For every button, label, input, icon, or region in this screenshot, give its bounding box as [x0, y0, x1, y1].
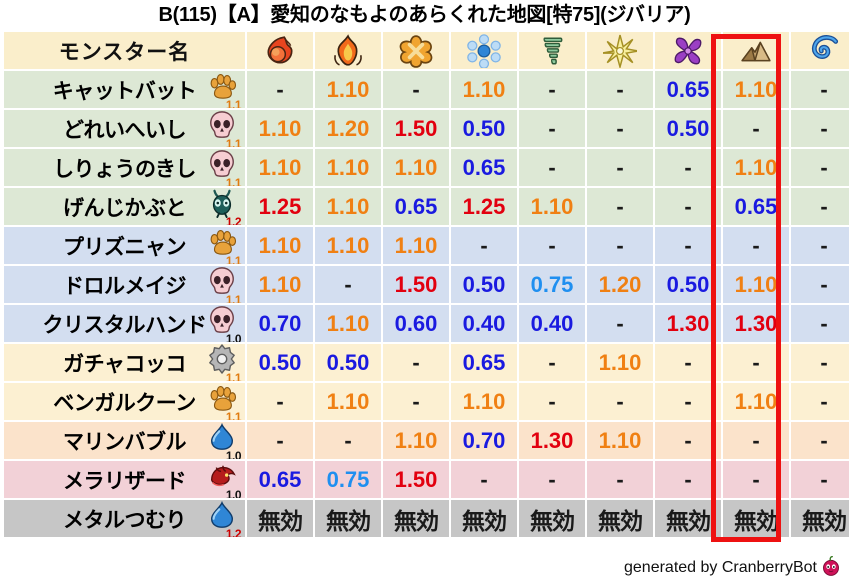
resistance-cell: - [723, 227, 789, 264]
monster-name-label: メラリザード [63, 465, 186, 495]
resistance-cell: 0.65 [655, 71, 721, 108]
monster-badge: 1.0 [207, 424, 241, 458]
resistance-value: 0.50 [667, 116, 710, 141]
table-row: ガチャコッコ1.10.500.50-0.65-1.10--- [4, 344, 849, 381]
monster-badge: 1.1 [207, 229, 241, 263]
resistance-value: - [752, 350, 759, 375]
monster-badge: 1.2 [207, 190, 241, 224]
monster-badge: 1.1 [207, 268, 241, 302]
header-monster-name: モンスター名 [4, 32, 245, 69]
resistance-cell: - [587, 149, 653, 186]
resistance-cell: - [791, 149, 849, 186]
resistance-cell: 0.50 [655, 266, 721, 303]
resistance-cell: 無効 [247, 500, 313, 537]
resistance-cell: 1.10 [383, 149, 449, 186]
resistance-table-wrap: モンスター名 キャットバット1.1-1.10-1.10--0.651.10-どれ… [0, 30, 849, 539]
monster-name-cell[interactable]: しりょうのきし1.1 [4, 149, 245, 186]
resistance-cell: 0.65 [247, 461, 313, 498]
resistance-cell: - [519, 110, 585, 147]
monster-level-label: 1.2 [226, 528, 241, 537]
header-element-dorma[interactable] [655, 32, 721, 69]
resistance-value: - [616, 77, 623, 102]
footer-text: generated by CranberryBot [624, 559, 817, 576]
skull-icon [207, 305, 237, 335]
starburst-icon [603, 34, 637, 68]
resistance-cell: 0.65 [451, 344, 517, 381]
monster-badge: 1.0 [207, 463, 241, 497]
resistance-value: 無効 [326, 508, 370, 534]
resistance-cell: 1.10 [315, 305, 381, 342]
resistance-value: 1.10 [599, 350, 642, 375]
table-row: どれいへいし1.11.101.201.500.50--0.50-- [4, 110, 849, 147]
table-header-row: モンスター名 [4, 32, 849, 69]
resistance-cell: 1.10 [247, 110, 313, 147]
footer: generated by CranberryBot [624, 556, 841, 577]
resistance-value: - [276, 77, 283, 102]
table-body: キャットバット1.1-1.10-1.10--0.651.10-どれいへいし1.1… [4, 71, 849, 537]
resistance-value: 1.10 [327, 233, 370, 258]
resistance-value: 1.10 [327, 194, 370, 219]
snowflake-icon [467, 34, 501, 68]
skull-icon [207, 149, 237, 179]
resistance-cell: - [587, 461, 653, 498]
resistance-value: 1.10 [259, 272, 302, 297]
resistance-cell: 1.10 [451, 71, 517, 108]
dragon-icon [207, 461, 237, 491]
resistance-value: 1.10 [735, 272, 778, 297]
header-element-jibaria[interactable] [723, 32, 789, 69]
resistance-cell: 1.10 [247, 266, 313, 303]
resistance-value: 1.25 [463, 194, 506, 219]
resistance-value: - [684, 389, 691, 414]
monster-level-label: 1.0 [226, 450, 241, 459]
monster-name-label: ドロルメイジ [63, 270, 186, 300]
resistance-value: 1.20 [327, 116, 370, 141]
table-row: マリンバブル1.0--1.100.701.301.10--- [4, 422, 849, 459]
resistance-value: 1.10 [259, 155, 302, 180]
resistance-value: 無効 [394, 508, 438, 534]
resistance-cell: 1.20 [315, 110, 381, 147]
monster-name-label: ベンガルクーン [53, 387, 195, 417]
resistance-cell: 0.50 [315, 344, 381, 381]
resistance-value: 1.10 [531, 194, 574, 219]
resistance-cell: - [587, 383, 653, 420]
resistance-cell: - [247, 383, 313, 420]
resistance-cell: - [791, 383, 849, 420]
monster-name-label: プリズニャン [63, 231, 186, 261]
monster-level-label: 1.1 [226, 294, 241, 303]
resistance-cell: - [723, 344, 789, 381]
monster-badge: 1.1 [207, 151, 241, 185]
resistance-value: 0.75 [531, 272, 574, 297]
monster-name-cell[interactable]: ベンガルクーン1.1 [4, 383, 245, 420]
monster-name-label: ガチャコッコ [63, 348, 186, 378]
resistance-value: 1.10 [395, 233, 438, 258]
resistance-value: 無効 [802, 508, 846, 534]
resistance-value: 1.30 [667, 311, 710, 336]
monster-name-label: どれいへいし [63, 114, 186, 144]
resistance-cell: - [723, 422, 789, 459]
resistance-value: - [820, 77, 827, 102]
resistance-value: 無効 [598, 508, 642, 534]
monster-level-label: 1.1 [226, 138, 241, 147]
resistance-cell: 0.40 [451, 305, 517, 342]
paw-icon [207, 227, 237, 257]
gear-icon [207, 344, 237, 374]
resistance-cell: - [791, 110, 849, 147]
resistance-value: - [616, 233, 623, 258]
resistance-value: 無効 [734, 508, 778, 534]
monster-badge: 1.1 [207, 73, 241, 107]
resistance-value: 0.75 [327, 467, 370, 492]
resistance-cell: 無効 [519, 500, 585, 537]
bug-icon [207, 188, 237, 218]
resistance-value: - [616, 467, 623, 492]
flame-icon [331, 34, 365, 68]
resistance-value: 1.10 [327, 311, 370, 336]
resistance-value: - [616, 389, 623, 414]
resistance-cell: - [587, 305, 653, 342]
skull-icon [207, 266, 237, 296]
resistance-cell: 1.10 [315, 227, 381, 264]
resistance-value: - [548, 389, 555, 414]
resistance-cell: - [655, 422, 721, 459]
header-element-bagi[interactable] [519, 32, 585, 69]
resistance-value: 0.50 [259, 350, 302, 375]
resistance-cell: 1.10 [723, 149, 789, 186]
resistance-value: - [820, 428, 827, 453]
monster-name-label: げんじかぶと [63, 192, 186, 222]
monster-name-label: マリンバブル [63, 426, 186, 456]
resistance-value: 0.40 [531, 311, 574, 336]
resistance-cell: 1.10 [723, 383, 789, 420]
monster-level-label: 1.0 [226, 489, 241, 498]
dark-pinwheel-icon [671, 34, 705, 68]
resistance-value: - [616, 116, 623, 141]
resistance-value: 無効 [666, 508, 710, 534]
resistance-cell: 無効 [791, 500, 849, 537]
monster-name-label: キャットバット [53, 75, 197, 105]
resistance-cell: - [655, 344, 721, 381]
cranberry-icon [821, 556, 841, 576]
resistance-value: - [820, 194, 827, 219]
resistance-value: 1.50 [395, 272, 438, 297]
resistance-cell: 0.75 [315, 461, 381, 498]
resistance-value: 1.25 [259, 194, 302, 219]
resistance-value: - [548, 350, 555, 375]
resistance-cell: 1.50 [383, 461, 449, 498]
resistance-cell: - [519, 227, 585, 264]
slime-icon [207, 500, 237, 530]
page-title: B(115)【A】愛知のなもよのあらくれた地図[特75](ジバリア) [0, 0, 849, 30]
resistance-cell: 1.10 [587, 422, 653, 459]
monster-level-label: 1.2 [226, 216, 241, 225]
table-row: プリズニャン1.11.101.101.10------ [4, 227, 849, 264]
resistance-value: - [684, 467, 691, 492]
resistance-cell: 0.75 [519, 266, 585, 303]
resistance-cell: - [587, 188, 653, 225]
monster-name-cell[interactable]: ドロルメイジ1.1 [4, 266, 245, 303]
resistance-value: 0.70 [463, 428, 506, 453]
resistance-value: - [752, 428, 759, 453]
monster-badge: 1.2 [207, 502, 241, 536]
resistance-cell: 1.10 [315, 188, 381, 225]
resistance-value: - [820, 116, 827, 141]
resistance-cell: - [315, 266, 381, 303]
resistance-value: 1.10 [463, 389, 506, 414]
table-row: クリスタルハンド1.00.701.100.600.400.40-1.301.30… [4, 305, 849, 342]
resistance-value: 0.50 [667, 272, 710, 297]
resistance-cell: 1.25 [247, 188, 313, 225]
resistance-cell: - [655, 383, 721, 420]
header-element-gira[interactable] [315, 32, 381, 69]
resistance-cell: 無効 [383, 500, 449, 537]
resistance-cell: - [655, 227, 721, 264]
monster-level-label: 1.1 [226, 255, 241, 264]
resistance-value: - [480, 233, 487, 258]
resistance-value: - [548, 155, 555, 180]
monster-name-label: メタルつむり [63, 504, 186, 534]
resistance-cell: - [791, 188, 849, 225]
resistance-value: 0.70 [259, 311, 302, 336]
monster-name-label: クリスタルハンド [43, 309, 207, 339]
resistance-value: - [820, 389, 827, 414]
resistance-cell: - [247, 422, 313, 459]
resistance-value: - [548, 233, 555, 258]
slime-icon [207, 422, 237, 452]
resistance-value: 0.65 [259, 467, 302, 492]
resistance-value: 1.30 [531, 428, 574, 453]
resistance-cell: 1.10 [519, 188, 585, 225]
resistance-cell: - [791, 422, 849, 459]
resistance-cell: - [519, 344, 585, 381]
resistance-cell: 無効 [723, 500, 789, 537]
resistance-value: 1.50 [395, 116, 438, 141]
resistance-cell: - [383, 71, 449, 108]
resistance-cell: - [587, 71, 653, 108]
resistance-cell: - [791, 227, 849, 264]
resistance-cell: - [451, 461, 517, 498]
resistance-table: モンスター名 キャットバット1.1-1.10-1.10--0.651.10-どれ… [2, 30, 849, 539]
resistance-cell: 1.10 [587, 344, 653, 381]
resistance-value: - [548, 467, 555, 492]
monster-name-cell[interactable]: マリンバブル1.0 [4, 422, 245, 459]
resistance-cell: 1.10 [383, 422, 449, 459]
resistance-cell: 0.50 [451, 110, 517, 147]
wave-icon [807, 34, 841, 68]
resistance-value: - [276, 428, 283, 453]
monster-badge: 1.0 [207, 307, 241, 341]
resistance-cell: - [519, 383, 585, 420]
resistance-cell: - [723, 461, 789, 498]
table-row: メラリザード1.00.650.751.50------ [4, 461, 849, 498]
resistance-cell: 無効 [451, 500, 517, 537]
resistance-value: 0.65 [667, 77, 710, 102]
monster-name-cell[interactable]: メタルつむり1.2 [4, 500, 245, 537]
resistance-value: - [820, 233, 827, 258]
resistance-cell: - [519, 461, 585, 498]
resistance-value: 0.50 [463, 116, 506, 141]
paw-icon [207, 383, 237, 413]
resistance-value: 0.65 [395, 194, 438, 219]
resistance-value: 1.10 [327, 389, 370, 414]
resistance-cell: 1.30 [655, 305, 721, 342]
resistance-cell: - [655, 188, 721, 225]
table-row: しりょうのきし1.11.101.101.100.65---1.10- [4, 149, 849, 186]
resistance-cell: - [723, 110, 789, 147]
table-row: キャットバット1.1-1.10-1.10--0.651.10- [4, 71, 849, 108]
resistance-cell: 0.50 [451, 266, 517, 303]
resistance-cell: 1.50 [383, 110, 449, 147]
resistance-cell: - [655, 461, 721, 498]
monster-name-cell[interactable]: げんじかぶと1.2 [4, 188, 245, 225]
resistance-value: 0.65 [463, 350, 506, 375]
resistance-cell: - [655, 149, 721, 186]
resistance-value: 1.10 [735, 77, 778, 102]
resistance-cell: 1.20 [587, 266, 653, 303]
resistance-cell: - [791, 266, 849, 303]
table-row: ドロルメイジ1.11.10-1.500.500.751.200.501.10- [4, 266, 849, 303]
resistance-value: 0.65 [735, 194, 778, 219]
resistance-value: 無効 [462, 508, 506, 534]
resistance-cell: - [791, 344, 849, 381]
resistance-value: - [820, 350, 827, 375]
resistance-value: - [616, 194, 623, 219]
resistance-value: - [820, 155, 827, 180]
table-row: ベンガルクーン1.1-1.10-1.10---1.10- [4, 383, 849, 420]
mountain-icon [739, 34, 773, 68]
header-element-iora[interactable] [383, 32, 449, 69]
resistance-value: - [276, 389, 283, 414]
resistance-value: - [684, 233, 691, 258]
resistance-cell: 0.40 [519, 305, 585, 342]
resistance-value: - [548, 77, 555, 102]
resistance-cell: 1.10 [723, 266, 789, 303]
resistance-cell: - [791, 305, 849, 342]
resistance-cell: - [315, 422, 381, 459]
resistance-cell: - [587, 227, 653, 264]
resistance-cell: 1.10 [247, 227, 313, 264]
monster-name-cell[interactable]: キャットバット1.1 [4, 71, 245, 108]
resistance-cell: - [451, 227, 517, 264]
monster-name-cell[interactable]: どれいへいし1.1 [4, 110, 245, 147]
resistance-value: - [480, 467, 487, 492]
resistance-value: - [820, 467, 827, 492]
resistance-value: - [412, 77, 419, 102]
resistance-value: - [616, 155, 623, 180]
resistance-value: 1.10 [259, 116, 302, 141]
explosion-icon [399, 34, 433, 68]
resistance-cell: 1.30 [519, 422, 585, 459]
resistance-value: 1.10 [327, 155, 370, 180]
resistance-cell: 0.70 [247, 305, 313, 342]
resistance-cell: - [519, 71, 585, 108]
resistance-value: 0.65 [463, 155, 506, 180]
resistance-value: - [684, 350, 691, 375]
resistance-value: 無効 [258, 508, 302, 534]
monster-badge: 1.1 [207, 346, 241, 380]
monster-level-label: 1.1 [226, 99, 241, 108]
resistance-value: 0.50 [463, 272, 506, 297]
monster-level-label: 1.0 [226, 333, 241, 342]
monster-name-cell[interactable]: プリズニャン1.1 [4, 227, 245, 264]
header-element-hyado[interactable] [451, 32, 517, 69]
resistance-value: 無効 [530, 508, 574, 534]
resistance-value: - [344, 272, 351, 297]
monster-badge: 1.1 [207, 385, 241, 419]
monster-name-cell[interactable]: ガチャコッコ1.1 [4, 344, 245, 381]
resistance-value: - [684, 194, 691, 219]
resistance-cell: 1.50 [383, 266, 449, 303]
resistance-value: - [820, 272, 827, 297]
monster-name-label: しりょうのきし [53, 153, 196, 183]
resistance-value: 1.30 [735, 311, 778, 336]
resistance-cell: - [791, 461, 849, 498]
resistance-value: - [752, 467, 759, 492]
resistance-value: 1.10 [395, 428, 438, 453]
monster-name-cell[interactable]: メラリザード1.0 [4, 461, 245, 498]
resistance-value: 1.20 [599, 272, 642, 297]
resistance-cell: 1.10 [451, 383, 517, 420]
monster-level-label: 1.1 [226, 411, 241, 420]
resistance-cell: 無効 [587, 500, 653, 537]
resistance-cell: - [791, 71, 849, 108]
resistance-value: 1.10 [463, 77, 506, 102]
resistance-cell: 1.10 [247, 149, 313, 186]
resistance-value: - [344, 428, 351, 453]
resistance-cell: 0.65 [451, 149, 517, 186]
header-element-dorugo[interactable] [791, 32, 849, 69]
resistance-cell: 0.70 [451, 422, 517, 459]
table-row: メタルつむり1.2無効無効無効無効無効無効無効無効無効 [4, 500, 849, 537]
resistance-cell: - [587, 110, 653, 147]
resistance-cell: 0.60 [383, 305, 449, 342]
resistance-cell: 1.10 [315, 149, 381, 186]
resistance-value: 0.60 [395, 311, 438, 336]
resistance-value: - [412, 350, 419, 375]
monster-name-cell[interactable]: クリスタルハンド1.0 [4, 305, 245, 342]
resistance-cell: 0.65 [723, 188, 789, 225]
resistance-cell: 1.10 [723, 71, 789, 108]
skull-icon [207, 110, 237, 140]
paw-icon [207, 71, 237, 101]
resistance-value: 1.10 [395, 155, 438, 180]
resistance-cell: 0.50 [655, 110, 721, 147]
resistance-cell: 1.10 [315, 71, 381, 108]
tornado-icon [535, 34, 569, 68]
resistance-value: - [684, 155, 691, 180]
resistance-cell: 無効 [655, 500, 721, 537]
resistance-cell: - [383, 344, 449, 381]
resistance-value: 1.10 [735, 155, 778, 180]
header-element-merami[interactable] [247, 32, 313, 69]
resistance-value: - [752, 116, 759, 141]
resistance-value: 1.50 [395, 467, 438, 492]
resistance-cell: 1.25 [451, 188, 517, 225]
resistance-value: 1.10 [599, 428, 642, 453]
resistance-cell: 0.65 [383, 188, 449, 225]
monster-level-label: 1.1 [226, 372, 241, 381]
resistance-value: - [752, 233, 759, 258]
resistance-cell: - [383, 383, 449, 420]
resistance-value: 1.10 [327, 77, 370, 102]
header-element-dein[interactable] [587, 32, 653, 69]
resistance-value: 1.10 [735, 389, 778, 414]
monster-level-label: 1.1 [226, 177, 241, 186]
resistance-cell: 1.10 [315, 383, 381, 420]
resistance-cell: 無効 [315, 500, 381, 537]
resistance-value: - [412, 389, 419, 414]
